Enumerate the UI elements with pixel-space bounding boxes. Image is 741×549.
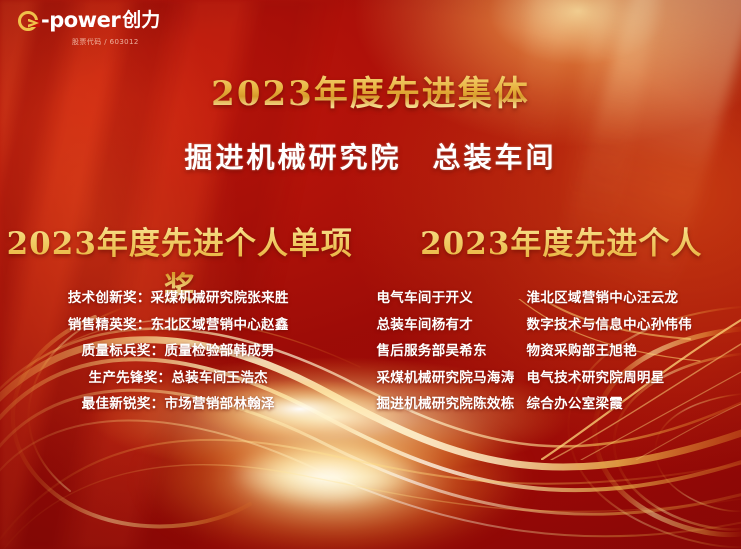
logo-wordmark-cn: 创力 xyxy=(122,11,160,30)
award-lists: 技术创新奖：采煤机械研究院张来胜 销售精英奖：东北区域营销中心赵鑫 质量标兵奖：… xyxy=(0,285,741,418)
company-logo[interactable]: -power 创力 股票代码 / 603012 xyxy=(18,10,160,47)
winning-units-line: 掘进机械研究院 总装车间 xyxy=(0,136,741,176)
list-item: 最佳新锐奖：市场营销部林翰泽 xyxy=(0,391,357,418)
stock-code-label: 股票代码 / 603012 xyxy=(72,37,139,47)
advanced-individual-list: 电气车间于开义 淮北区域营销中心汪云龙 总装车间杨有才 数字技术与信息中心孙伟伟… xyxy=(371,285,741,418)
list-item-name: 数字技术与信息中心孙伟伟 xyxy=(527,312,693,339)
list-item: 电气车间于开义 淮北区域营销中心汪云龙 xyxy=(377,285,741,312)
poster-content: -power 创力 股票代码 / 603012 2023年度先进集体 掘进机械研… xyxy=(0,0,741,549)
single-award-list: 技术创新奖：采煤机械研究院张来胜 销售精英奖：东北区域营销中心赵鑫 质量标兵奖：… xyxy=(0,285,371,418)
list-item-name: 总装车间杨有才 xyxy=(377,312,527,339)
list-item-name: 物资采购部王旭艳 xyxy=(527,338,637,365)
list-item: 技术创新奖：采煤机械研究院张来胜 xyxy=(0,285,357,312)
list-item-name: 采煤机械研究院马海涛 xyxy=(377,365,527,392)
c-power-circle-arrow-icon xyxy=(18,11,38,31)
list-item-name: 电气技术研究院周明星 xyxy=(527,365,665,392)
list-item: 采煤机械研究院马海涛 电气技术研究院周明星 xyxy=(377,365,741,392)
list-item: 销售精英奖：东北区域营销中心赵鑫 xyxy=(0,312,357,339)
list-item-name: 淮北区域营销中心汪云龙 xyxy=(527,285,679,312)
list-item-name: 电气车间于开义 xyxy=(377,285,527,312)
list-item-name: 掘进机械研究院陈效栋 xyxy=(377,391,527,418)
list-item: 总装车间杨有才 数字技术与信息中心孙伟伟 xyxy=(377,312,741,339)
list-item-name: 综合办公室梁霞 xyxy=(527,391,624,418)
list-item: 掘进机械研究院陈效栋 综合办公室梁霞 xyxy=(377,391,741,418)
list-item-name: 售后服务部吴希东 xyxy=(377,338,527,365)
list-item: 售后服务部吴希东 物资采购部王旭艳 xyxy=(377,338,741,365)
logo-wordmark: -power xyxy=(41,10,120,31)
list-item: 质量标兵奖：质量检验部韩成男 xyxy=(0,338,357,365)
page-title: 2023年度先进集体 xyxy=(0,66,741,115)
list-item: 生产先锋奖：总装车间王浩杰 xyxy=(0,365,357,392)
award-poster: -power 创力 股票代码 / 603012 2023年度先进集体 掘进机械研… xyxy=(0,0,741,549)
logo-row: -power 创力 xyxy=(18,10,160,31)
